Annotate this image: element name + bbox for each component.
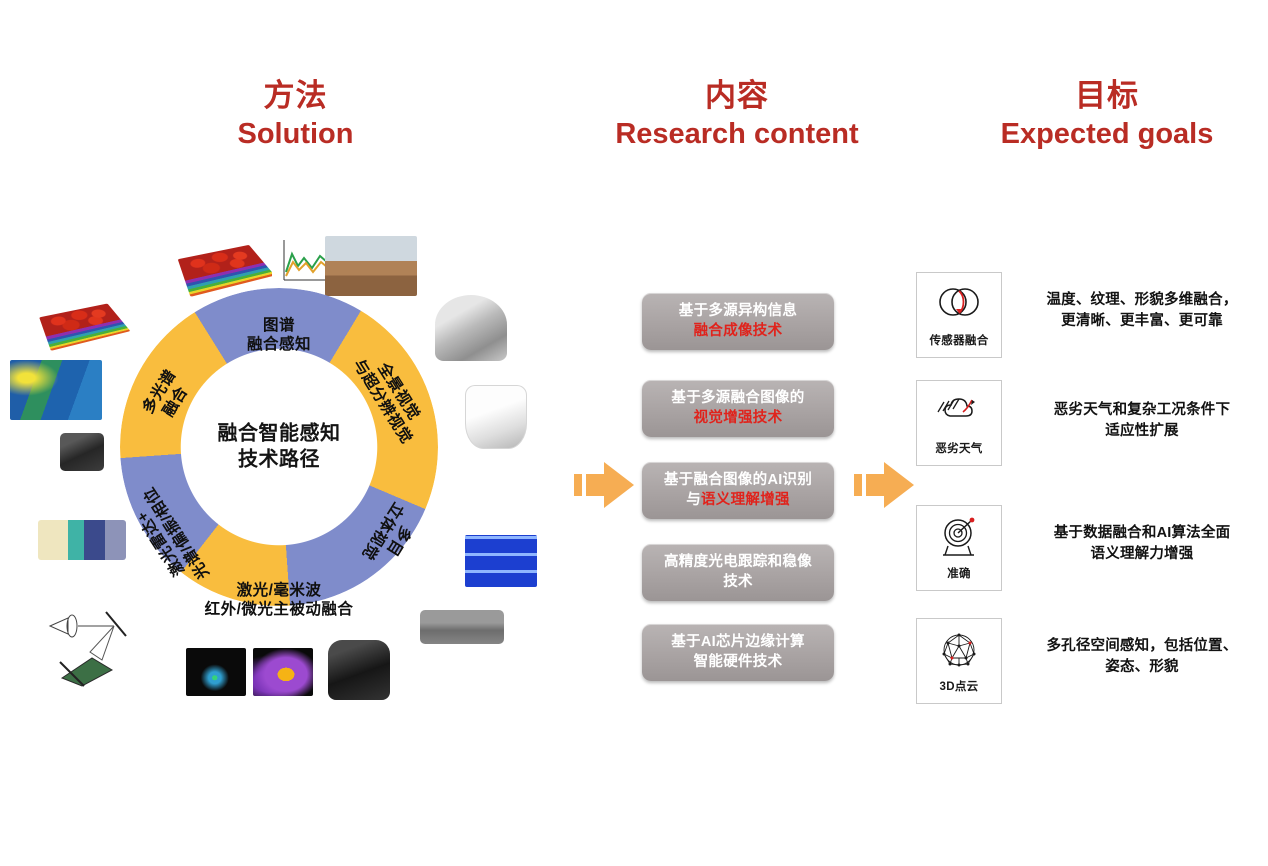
card-line-plain: 高精度光电跟踪和稳像 (664, 553, 812, 573)
card-fusion-imaging[interactable]: 基于多源异构信息 融合成像技术 (642, 293, 834, 350)
card-ai-chip-edge-computing[interactable]: 基于AI芯片边缘计算 智能硬件技术 (642, 624, 834, 681)
wheel-center-label: 融合智能感知 技术路径 (181, 421, 377, 474)
goal-text-line2: 适应性扩展 (1022, 421, 1262, 442)
arrow-head (604, 462, 634, 508)
arrow-tail (854, 474, 862, 496)
pan-tilt-sensor-head-thumbnail (465, 385, 527, 449)
goal-text-bad-weather: 恶劣天气和复杂工况条件下 适应性扩展 (1022, 400, 1262, 441)
goal-text-line1: 恶劣天气和复杂工况条件下 (1022, 400, 1262, 421)
goal-icon-caption: 准确 (947, 565, 971, 581)
beam-splitter-device-thumbnail (38, 520, 126, 560)
goal-text-line2: 更清晰、更丰富、更可靠 (1022, 311, 1262, 332)
header-goals-cn: 目标 (952, 78, 1262, 115)
column-header-research-content: 内容 Research content (572, 78, 902, 151)
card-line-plain: 基于AI芯片边缘计算 (671, 633, 805, 653)
card-line-plain: 基于融合图像的AI识别 (664, 471, 812, 491)
header-goals-en: Expected goals (952, 117, 1262, 151)
goal-icon-box-bad-weather[interactable]: 恶劣天气 (916, 380, 1002, 466)
card-line-plain: 基于多源融合图像的 (671, 389, 804, 409)
optical-path-icon (40, 600, 152, 688)
goal-text-line1: 温度、纹理、形貌多维融合， (1022, 290, 1262, 311)
goal-text-sensor-fusion: 温度、纹理、形貌多维融合， 更清晰、更丰富、更可靠 (1022, 290, 1262, 331)
stereo-depth-bricks-thumbnail (465, 535, 537, 587)
arrow-content-to-goals (852, 462, 914, 508)
solution-wheel-area: 图谱 融合感知 全景视觉 与超分辨视觉 多目 立体视觉 激光/毫米波 红外/微光… (10, 210, 550, 730)
header-content-en: Research content (572, 117, 902, 151)
card-line-plain: 基于多源异构信息 (679, 302, 797, 322)
optical-path-schematic-thumbnail (40, 600, 152, 688)
point-cloud-sphere-icon (936, 628, 982, 672)
black-camera-module-thumbnail (60, 433, 104, 471)
wheel-center-line2: 技术路径 (181, 447, 377, 473)
goal-icon-box-accuracy[interactable]: 准确 (916, 505, 1002, 591)
column-header-solution: 方法 Solution (148, 78, 443, 151)
goal-text-accuracy: 基于数据融合和AI算法全面 语义理解力增强 (1022, 523, 1262, 564)
header-solution-en: Solution (148, 117, 443, 151)
goal-icon-caption: 恶劣天气 (935, 440, 982, 456)
industrial-pipeline-photo-thumbnail (325, 236, 417, 296)
card-line-plain2: 智能硬件技术 (694, 653, 783, 673)
header-content-cn: 内容 (572, 78, 902, 115)
goal-icon-caption: 传感器融合 (930, 332, 989, 348)
rain-cloud-icon (936, 390, 982, 434)
card-line-highlight: 视觉增强技术 (694, 409, 783, 429)
header-solution-cn: 方法 (148, 78, 443, 115)
panoramic-multi-camera-rig-thumbnail (435, 295, 507, 361)
goal-icon-box-sensor-fusion[interactable]: 传感器融合 (916, 272, 1002, 358)
thermal-infrared-image-thumbnail (10, 360, 102, 420)
venn-overlap-icon (936, 282, 982, 326)
stereo-camera-bar-thumbnail (420, 610, 504, 644)
fruit-hyperspectral-cube-thumbnail (39, 304, 130, 351)
technology-roadmap-wheel: 图谱 融合感知 全景视觉 与超分辨视觉 多目 立体视觉 激光/毫米波 红外/微光… (120, 288, 438, 606)
goal-text-line2: 语义理解力增强 (1022, 544, 1262, 565)
card-line-prefix: 与 (686, 492, 701, 508)
goal-icon-box-3d-point-cloud[interactable]: 3D点云 (916, 618, 1002, 704)
card-line-highlight: 融合成像技术 (694, 322, 783, 342)
arrow-solution-to-content (572, 462, 634, 508)
multi-sensor-turret-thumbnail (328, 640, 390, 700)
column-header-expected-goals: 目标 Expected goals (952, 78, 1262, 151)
target-dart-icon (936, 515, 982, 559)
card-tracking-stabilization[interactable]: 高精度光电跟踪和稳像 技术 (642, 544, 834, 601)
card-ai-recognition[interactable]: 基于融合图像的AI识别 与语义理解增强 (642, 462, 834, 519)
goal-text-line2: 姿态、形貌 (1022, 657, 1262, 678)
arrow-tail (574, 474, 582, 496)
goal-icon-caption: 3D点云 (940, 678, 979, 694)
thermal-night-scene-thumbnail (253, 648, 313, 696)
goal-text-3d-point-cloud: 多孔径空间感知，包括位置、 姿态、形貌 (1022, 636, 1262, 677)
wheel-center-line1: 融合智能感知 (181, 421, 377, 447)
card-line-plain2: 技术 (723, 573, 753, 593)
card-line-highlight: 语义理解增强 (701, 492, 790, 508)
card-line-mixed: 与语义理解增强 (686, 491, 790, 511)
card-visual-enhancement[interactable]: 基于多源融合图像的 视觉增强技术 (642, 380, 834, 437)
arrow-head (884, 462, 914, 508)
goal-text-line1: 多孔径空间感知，包括位置、 (1022, 636, 1262, 657)
goal-text-line1: 基于数据融合和AI算法全面 (1022, 523, 1262, 544)
lidar-point-cloud-scene-thumbnail (186, 648, 246, 696)
